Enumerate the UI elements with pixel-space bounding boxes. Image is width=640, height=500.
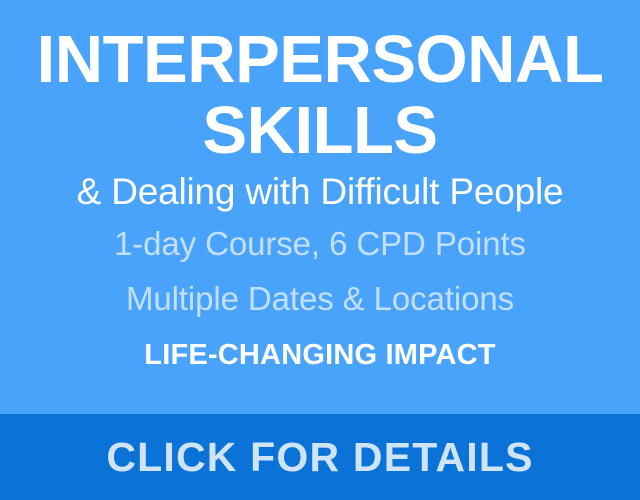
course-detail-dates-locations: Multiple Dates & Locations xyxy=(0,271,640,326)
advertisement-banner[interactable]: INTERPERSONAL SKILLS & Dealing with Diff… xyxy=(0,0,640,500)
subheadline: & Dealing with Difficult People xyxy=(0,168,640,216)
headline-line-1: INTERPERSONAL xyxy=(0,26,640,94)
impact-tagline: LIFE-CHANGING IMPACT xyxy=(0,332,640,378)
banner-content-area: INTERPERSONAL SKILLS & Dealing with Diff… xyxy=(0,0,640,414)
course-detail-duration-cpd: 1-day Course, 6 CPD Points xyxy=(0,216,640,271)
cta-button[interactable]: CLICK FOR DETAILS xyxy=(0,414,640,500)
headline-line-2: SKILLS xyxy=(0,94,640,168)
cta-button-label: CLICK FOR DETAILS xyxy=(106,435,533,479)
